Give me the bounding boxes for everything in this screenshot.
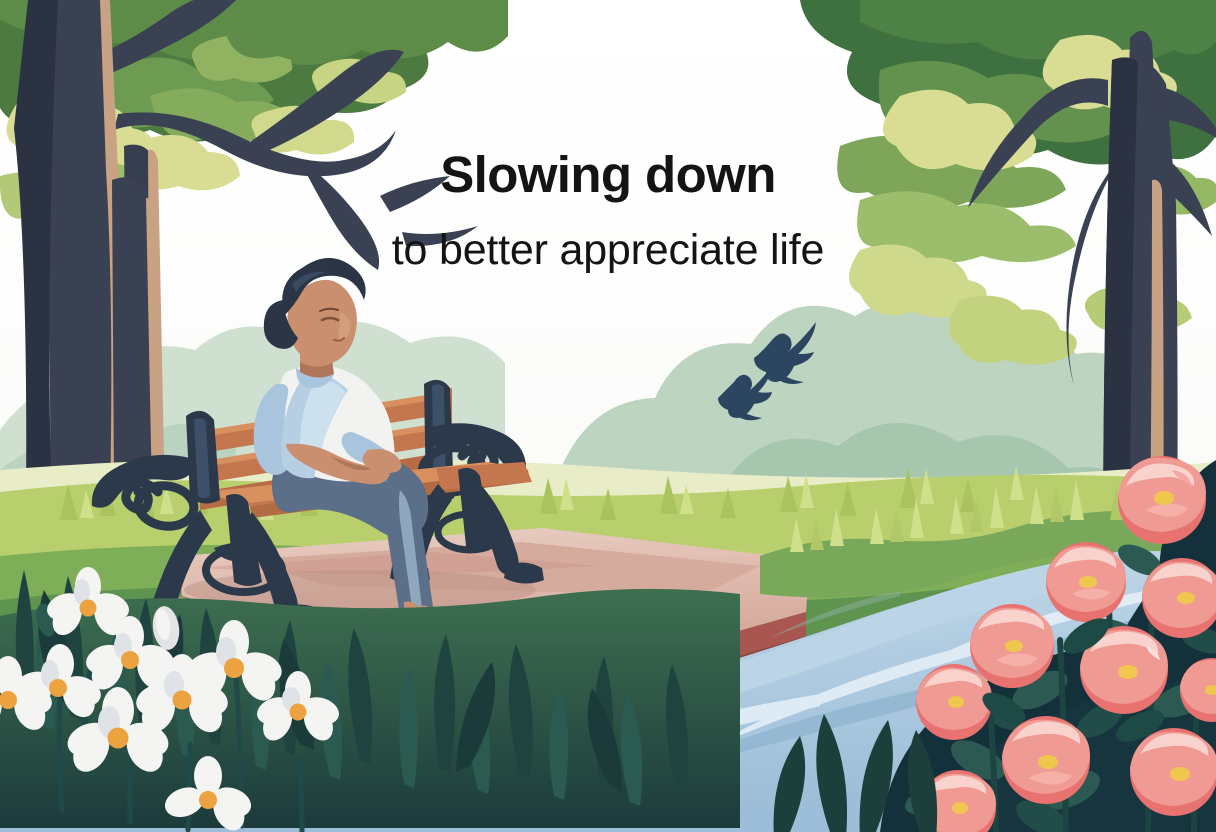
scene-svg xyxy=(0,0,1216,832)
rose xyxy=(1118,456,1206,544)
rose xyxy=(970,604,1054,688)
illustration-canvas: Slowing down to better appreciate life xyxy=(0,0,1216,832)
rose xyxy=(1046,542,1126,622)
rose xyxy=(1002,716,1090,804)
rose xyxy=(916,664,992,740)
rose xyxy=(1130,728,1216,816)
